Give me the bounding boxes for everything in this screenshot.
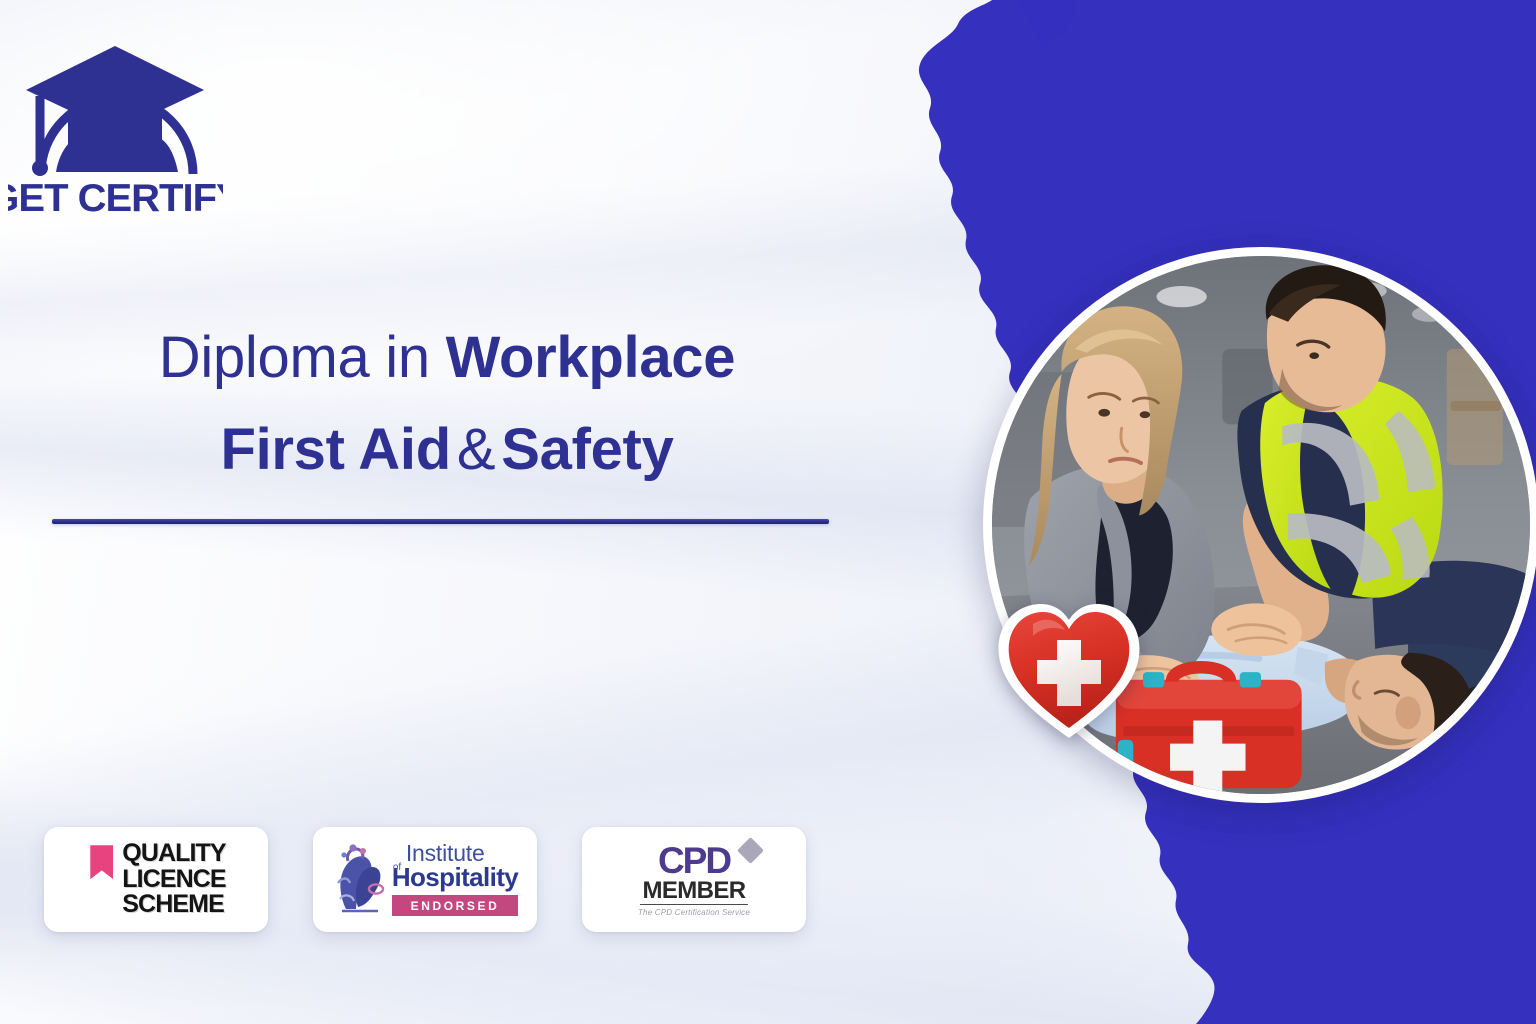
hero-title: Diploma in Workplace First Aid&Safety	[52, 312, 842, 496]
title-light-1: Diploma in	[159, 325, 446, 390]
badge-quality-licence-scheme[interactable]: QUALITY LICENCE SCHEME	[44, 827, 268, 932]
ioh-endorsed-banner: ENDORSED	[392, 895, 518, 916]
qls-line-2: LICENCE	[122, 867, 225, 893]
ioh-endorsed-label: ENDORSED	[411, 899, 500, 913]
hero-title-line-2: First Aid&Safety	[52, 404, 842, 496]
hero-title-line-1: Diploma in Workplace	[52, 312, 842, 404]
title-divider-rule	[52, 519, 829, 524]
qls-line-3: SCHEME	[122, 892, 225, 918]
ioh-line-2: Hospitality	[392, 864, 518, 890]
badge-cpd-member[interactable]: CPD MEMBER The CPD Certification Service	[582, 827, 806, 932]
ioh-of: of	[393, 862, 401, 873]
accreditation-badges: QUALITY LICENCE SCHEME	[44, 827, 806, 932]
title-bold-1: Workplace	[446, 325, 736, 390]
badge-institute-of-hospitality[interactable]: Institute of Hospitality ENDORSED	[313, 827, 537, 932]
title-ampersand: &	[451, 417, 501, 482]
title-bold-3: Safety	[501, 417, 673, 482]
cpd-line-1: CPD	[582, 843, 806, 879]
title-bold-2: First Aid	[220, 417, 450, 482]
ribbon-bookmark-icon	[90, 845, 113, 879]
graduation-cap-globe-icon	[26, 46, 204, 176]
get-certify-logo[interactable]: GET CERTIFY	[8, 22, 223, 217]
qls-line-1: QUALITY	[122, 841, 225, 867]
cpd-line-2: MEMBER	[640, 879, 747, 905]
course-promo-banner: GET CERTIFY Diploma in Workplace First A…	[0, 0, 1536, 1024]
logo-wordmark: GET CERTIFY	[8, 176, 223, 217]
heart-first-aid-icon	[993, 596, 1145, 744]
ioh-line-1: Institute	[392, 843, 518, 864]
cpd-fine-print: The CPD Certification Service	[582, 908, 806, 917]
heraldic-crest-icon	[332, 843, 388, 917]
